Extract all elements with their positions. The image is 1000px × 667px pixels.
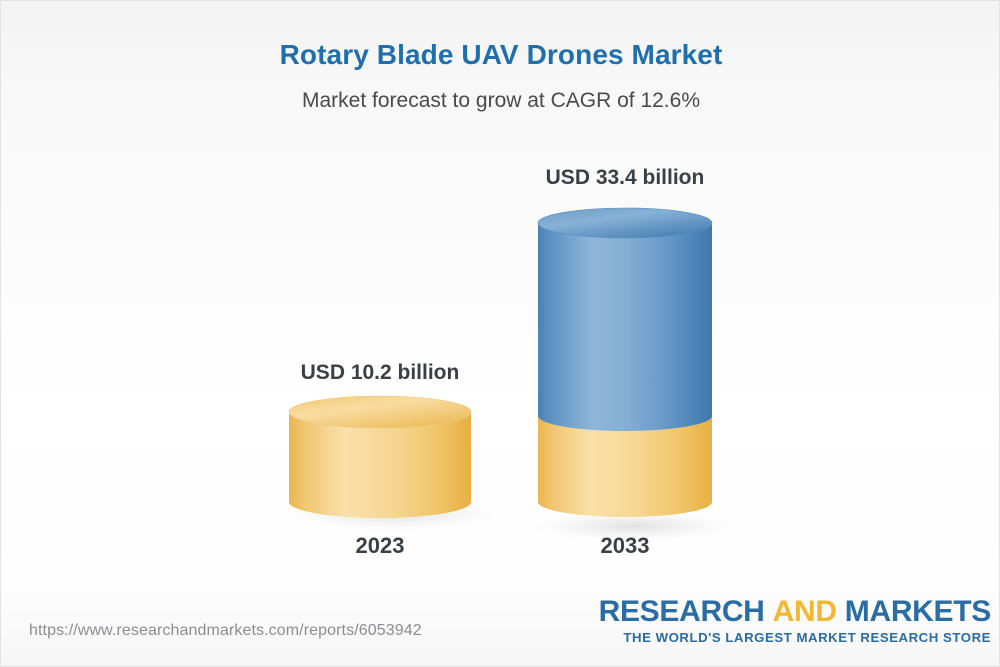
brand-logo-and: AND <box>773 595 837 628</box>
brand-logo-research: RESEARCH <box>599 595 765 628</box>
bar-2023-category-label: 2023 <box>280 533 480 559</box>
brand-logo-tagline: THE WORLD'S LARGEST MARKET RESEARCH STOR… <box>599 631 991 644</box>
brand-logo-markets: MARKETS <box>845 595 991 628</box>
bar-2033-segment-growth <box>538 223 712 431</box>
brand-logo[interactable]: RESEARCH AND MARKETS THE WORLD'S LARGEST… <box>599 597 991 644</box>
chart-canvas: Rotary Blade UAV Drones Market Market fo… <box>0 0 1000 667</box>
bar-2023-cylinder <box>281 386 491 536</box>
page-title: Rotary Blade UAV Drones Market <box>1 39 1000 71</box>
source-url[interactable]: https://www.researchandmarkets.com/repor… <box>29 622 422 640</box>
bar-2023-top-cap <box>289 396 471 428</box>
bar-2033-value-label: USD 33.4 billion <box>525 166 725 190</box>
bar-2033-segment-base <box>538 416 712 517</box>
bar-2033-svg <box>531 197 741 537</box>
bar-2033-cylinder <box>531 197 741 537</box>
bar-2033-category-label: 2033 <box>525 533 725 559</box>
bar-2033-top-cap <box>538 208 712 238</box>
bar-2023-svg <box>281 386 491 536</box>
brand-logo-wordmark: RESEARCH AND MARKETS <box>599 597 991 627</box>
bar-2023-value-label: USD 10.2 billion <box>280 361 480 385</box>
page-subtitle: Market forecast to grow at CAGR of 12.6% <box>1 89 1000 113</box>
